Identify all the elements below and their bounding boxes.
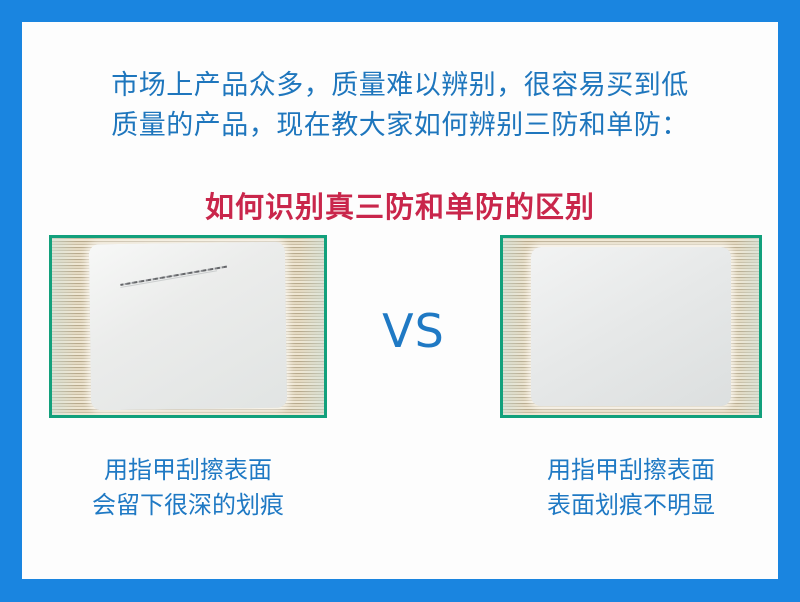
photo-left-scratched xyxy=(49,235,327,418)
caption-left: 用指甲刮擦表面 会留下很深的划痕 xyxy=(49,453,327,523)
caption-left-line-1: 用指甲刮擦表面 xyxy=(49,453,327,488)
intro-paragraph: 市场上产品众多，质量难以辨别，很容易买到低 质量的产品，现在教大家如何辨别三防和… xyxy=(22,66,778,146)
poster-frame: 市场上产品众多，质量难以辨别，很容易买到低 质量的产品，现在教大家如何辨别三防和… xyxy=(0,0,800,602)
caption-right: 用指甲刮擦表面 表面划痕不明显 xyxy=(500,453,762,523)
caption-left-line-2: 会留下很深的划痕 xyxy=(49,488,327,523)
intro-line-1: 市场上产品众多，质量难以辨别，很容易买到低 xyxy=(22,66,778,106)
caption-right-line-2: 表面划痕不明显 xyxy=(500,488,762,523)
photo-halo-left xyxy=(52,238,324,415)
page-title: 如何识别真三防和单防的区别 xyxy=(22,188,778,226)
photo-right-clean xyxy=(500,235,762,418)
photo-halo-right xyxy=(503,238,759,415)
caption-right-line-1: 用指甲刮擦表面 xyxy=(500,453,762,488)
intro-line-2: 质量的产品，现在教大家如何辨别三防和单防： xyxy=(22,106,778,146)
content-card: 市场上产品众多，质量难以辨别，很容易买到低 质量的产品，现在教大家如何辨别三防和… xyxy=(22,22,778,579)
vs-divider-label: VS xyxy=(327,308,500,354)
